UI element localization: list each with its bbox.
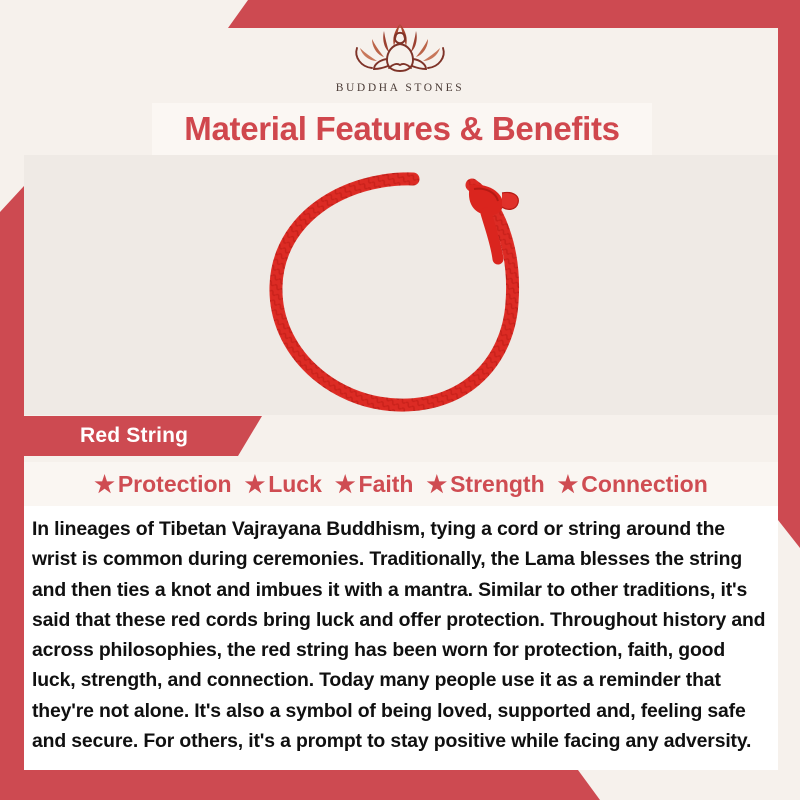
description-box: In lineages of Tibetan Vajrayana Buddhis… bbox=[24, 506, 778, 770]
brand-name: BUDDHA STONES bbox=[336, 82, 464, 94]
brand-logo: BUDDHA STONES bbox=[334, 17, 466, 94]
feature-faith: ★ Faith bbox=[335, 471, 414, 498]
title-banner: Material Features & Benefits bbox=[152, 103, 652, 155]
star-icon: ★ bbox=[335, 473, 356, 496]
decor-band-bottom bbox=[0, 770, 800, 800]
decor-band-right bbox=[778, 28, 800, 548]
feature-strength: ★ Strength bbox=[426, 471, 544, 498]
lotus-meditation-icon bbox=[334, 17, 466, 81]
feature-luck: ★ Luck bbox=[245, 471, 322, 498]
feature-connection: ★ Connection bbox=[558, 471, 708, 498]
ribbon-label: Red String bbox=[80, 424, 188, 448]
product-photo bbox=[24, 155, 778, 415]
red-braided-string-bracelet-icon bbox=[240, 163, 570, 415]
star-icon: ★ bbox=[558, 473, 579, 496]
star-icon: ★ bbox=[94, 473, 115, 496]
infographic-canvas: BUDDHA STONES Material Features & Benefi… bbox=[0, 0, 800, 800]
feature-label: Protection bbox=[118, 471, 232, 498]
feature-label: Luck bbox=[268, 471, 322, 498]
brand-header: BUDDHA STONES bbox=[0, 0, 800, 104]
feature-label: Connection bbox=[581, 471, 708, 498]
feature-protection: ★ Protection bbox=[94, 471, 231, 498]
product-ribbon: Red String bbox=[24, 416, 262, 456]
star-icon: ★ bbox=[426, 473, 447, 496]
star-icon: ★ bbox=[245, 473, 266, 496]
page-title: Material Features & Benefits bbox=[184, 110, 619, 148]
description-text: In lineages of Tibetan Vajrayana Buddhis… bbox=[32, 514, 768, 756]
feature-label: Strength bbox=[450, 471, 545, 498]
decor-band-left bbox=[0, 186, 24, 800]
feature-label: Faith bbox=[359, 471, 414, 498]
features-row: ★ Protection ★ Luck ★ Faith ★ Strength ★… bbox=[24, 462, 778, 506]
